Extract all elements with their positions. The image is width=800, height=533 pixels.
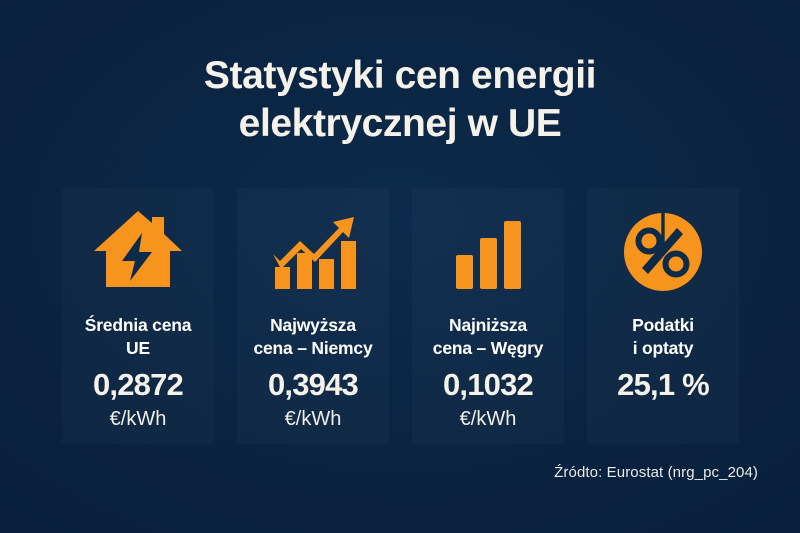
stat-card-taxes: Podatki i optaty 25,1 %: [587, 188, 739, 444]
stat-card-label-line-2: i optaty: [633, 338, 694, 358]
stat-card-lowest-price: Najniższa cena – Węgry 0,1032 €/kWh: [412, 188, 564, 444]
stat-card-label-line-1: Najwyższa: [270, 315, 356, 335]
percent-circle-icon: [587, 202, 739, 298]
house-bolt-icon: [62, 202, 214, 298]
title-line-1: Statystyki cen energii: [70, 52, 730, 100]
bar-chart-up-arrow-icon: [237, 202, 389, 298]
stat-card-label-line-1: Podatki: [632, 315, 694, 335]
infographic-canvas: Statystyki cen energii elektrycznej w UE…: [0, 0, 800, 533]
stat-card-label: Średnia cena UE: [83, 314, 194, 360]
stat-card-label-line-2: cena – Niemcy: [253, 338, 372, 358]
stat-card-value: 0,1032: [443, 369, 533, 402]
stat-card-unit: €/kWh: [460, 408, 517, 430]
source-note: Źródto: Eurostat (nrg_pc_204): [554, 464, 758, 481]
stat-card-label-line-2: cena – Węgry: [433, 338, 543, 358]
title-line-2: elektrycznej w UE: [70, 100, 730, 148]
bar-chart-icon: [412, 202, 564, 298]
stat-card-label-line-1: Najniższa: [449, 315, 527, 335]
stat-card-value: 0,2872: [93, 369, 183, 402]
stat-card-label: Najwyższa cena – Niemcy: [251, 314, 374, 360]
stat-card-label: Najniższa cena – Węgry: [431, 314, 545, 360]
stat-card-unit: €/kWh: [285, 408, 342, 430]
stat-cards-row: Średnia cena UE 0,2872 €/kWh Najwyższa c…: [62, 188, 739, 444]
stat-card-label-line-1: Średnia cena: [85, 315, 192, 335]
stat-card-highest-price: Najwyższa cena – Niemcy 0,3943 €/kWh: [237, 188, 389, 444]
stat-card-unit: €/kWh: [110, 408, 167, 430]
stat-card-label: Podatki i optaty: [630, 314, 696, 360]
page-title: Statystyki cen energii elektrycznej w UE: [0, 52, 800, 147]
stat-card-value: 0,3943: [268, 369, 358, 402]
stat-card-value: 25,1 %: [617, 369, 709, 402]
stat-card-average-price: Średnia cena UE 0,2872 €/kWh: [62, 188, 214, 444]
stat-card-label-line-2: UE: [126, 338, 150, 358]
